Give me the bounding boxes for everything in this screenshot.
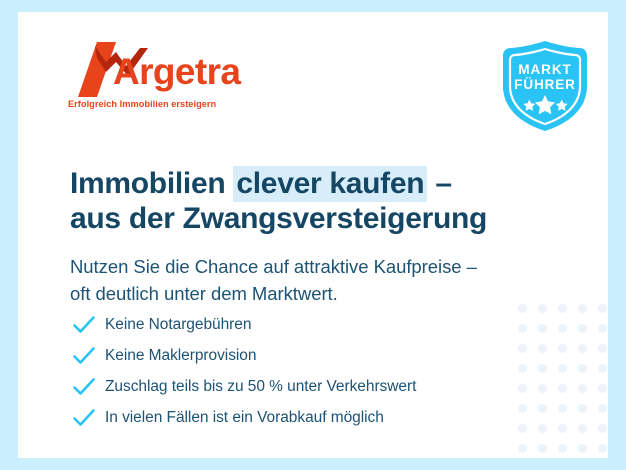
dot <box>578 444 587 453</box>
benefit-checklist: Keine Notargebühren Keine Maklerprovisio… <box>72 309 552 433</box>
dot <box>578 384 587 393</box>
check-icon <box>72 377 96 397</box>
check-icon <box>72 315 96 335</box>
dot <box>578 344 587 353</box>
dot <box>538 444 547 453</box>
list-item: Zuschlag teils bis zu 50 % unter Verkehr… <box>72 371 552 402</box>
dot <box>558 444 567 453</box>
dot <box>598 384 607 393</box>
dot <box>558 384 567 393</box>
market-leader-badge: MARKT FÜHRER <box>499 38 591 134</box>
check-icon <box>72 346 96 366</box>
dot <box>598 444 607 453</box>
headline-line-2: aus der Zwangsversteigerung <box>70 201 580 236</box>
dot <box>518 444 527 453</box>
dot <box>598 304 607 313</box>
dot <box>558 324 567 333</box>
dot <box>578 424 587 433</box>
list-item: Keine Maklerprovision <box>72 340 552 371</box>
subheadline-line-1: Nutzen Sie die Chance auf attraktive Kau… <box>70 253 590 280</box>
list-item-label: Keine Maklerprovision <box>105 348 256 364</box>
headline-text-after: – <box>427 167 451 200</box>
dot <box>558 404 567 413</box>
check-icon <box>72 408 96 428</box>
banner-card: Argetra Erfolgreich Immobilien ersteiger… <box>18 12 608 458</box>
dot <box>598 404 607 413</box>
headline: Immobilien clever kaufen – aus der Zwang… <box>70 166 580 236</box>
list-item-label: Keine Notargebühren <box>105 317 251 333</box>
logo-tagline: Erfolgreich Immobilien ersteigern <box>68 99 216 109</box>
dot <box>598 364 607 373</box>
dot <box>578 364 587 373</box>
dot <box>558 364 567 373</box>
dot <box>598 424 607 433</box>
dot <box>598 344 607 353</box>
list-item-label: In vielen Fällen ist ein Vorabkauf mögli… <box>105 410 384 426</box>
subheadline: Nutzen Sie die Chance auf attraktive Kau… <box>70 253 590 307</box>
dot <box>598 324 607 333</box>
dot <box>578 404 587 413</box>
list-item: In vielen Fällen ist ein Vorabkauf mögli… <box>72 402 552 433</box>
list-item-label: Zuschlag teils bis zu 50 % unter Verkehr… <box>105 379 416 395</box>
headline-line-1: Immobilien clever kaufen – <box>70 166 580 201</box>
dot <box>558 424 567 433</box>
argetra-logo[interactable]: Argetra Erfolgreich Immobilien ersteiger… <box>56 40 256 118</box>
subheadline-line-2: oft deutlich unter dem Marktwert. <box>70 280 590 307</box>
dot <box>578 324 587 333</box>
logo-wordmark: Argetra <box>113 53 240 90</box>
dot <box>558 344 567 353</box>
shield-icon <box>499 38 591 134</box>
list-item: Keine Notargebühren <box>72 309 552 340</box>
headline-text-before: Immobilien <box>70 167 233 200</box>
headline-highlight: clever kaufen <box>233 166 427 202</box>
promo-banner: Argetra Erfolgreich Immobilien ersteiger… <box>0 0 626 470</box>
